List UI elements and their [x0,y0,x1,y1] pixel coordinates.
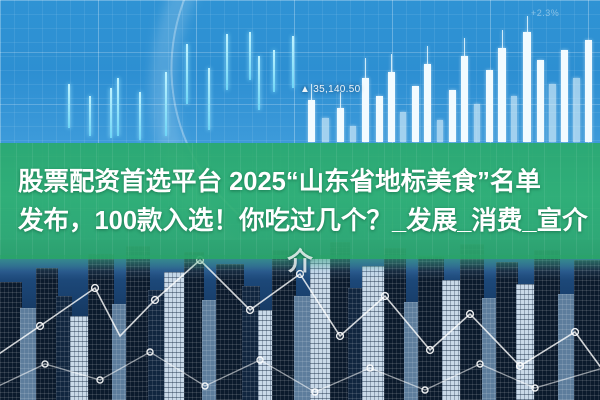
banner-image: ▲ 35,140.50 +2.3% [0,0,600,400]
percent-change-label: +2.3% [531,8,559,18]
ticker-value: ▲ 35,140.50 [300,84,360,95]
headline-overflow-char: 介 [0,243,600,282]
headline-text: 股票配资首选平台 2025“山东省地标美食”名单 发布，100款入选！你吃过几个… [0,163,600,241]
trend-polyline-lower [0,352,600,392]
headline-line-1: 股票配资首选平台 2025“山东省地标美食”名单 [18,163,600,202]
headline-line-2: 发布，100款入选！你吃过几个？_发展_消费_宣介 [18,202,600,241]
ticker-text: ▲ 35,140.50 [300,84,360,95]
